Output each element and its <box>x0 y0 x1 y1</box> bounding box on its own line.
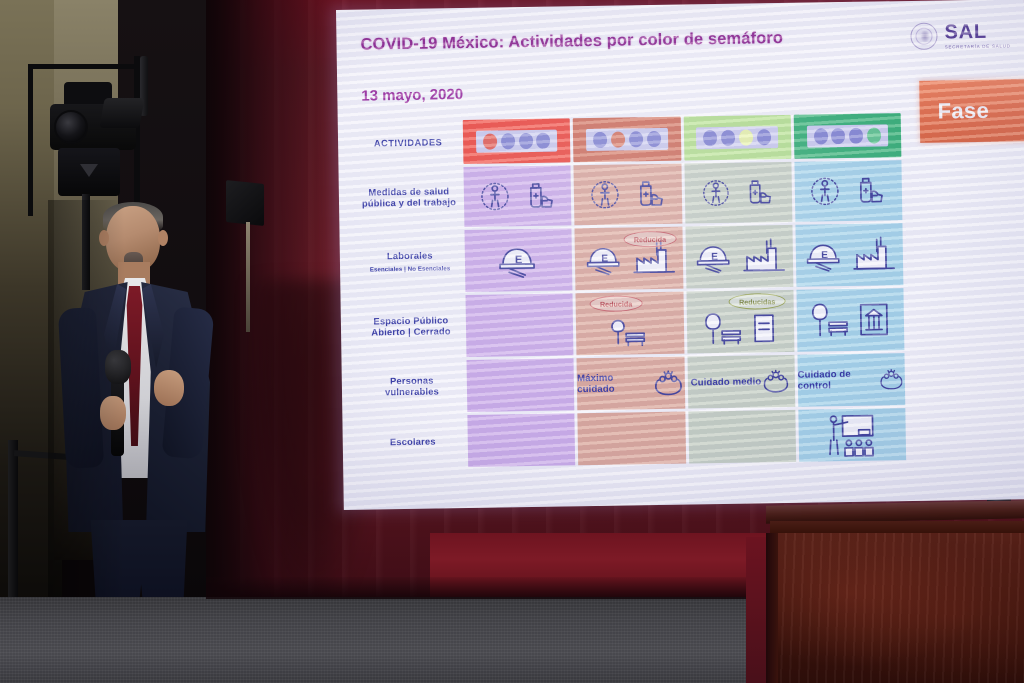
projection-screen: COVID-19 México: Actividades por color d… <box>336 0 1024 510</box>
table-cell <box>463 165 571 227</box>
park-bench-icon <box>811 301 852 340</box>
sanitizer-icon <box>744 176 774 208</box>
table-cell: E <box>685 225 793 289</box>
row-label-actividades: ACTIVIDADES <box>356 120 461 166</box>
podium-backdrop <box>746 537 768 683</box>
factory-icon <box>853 236 896 273</box>
row-label-vulnerables: Personas vulnerables <box>360 360 465 414</box>
helmet-icon: E <box>583 239 628 278</box>
table-cell <box>463 118 571 164</box>
brand-name: SAL <box>944 21 1010 42</box>
metal-rail <box>246 222 250 332</box>
stage-scene: COVID-19 México: Actividades por color d… <box>0 0 1024 683</box>
semaforo-naranja <box>573 117 681 163</box>
table-cell <box>574 164 682 226</box>
table-cell: Cuidado de control <box>797 353 905 407</box>
table-cell: Cuidado medio <box>687 355 795 409</box>
hands-care-icon <box>651 369 684 398</box>
helmet-icon: E <box>803 236 848 275</box>
slide-title: COVID-19 México: Actividades por color d… <box>360 29 783 55</box>
table-cell <box>467 358 575 412</box>
rig-post-left <box>28 64 33 216</box>
slide-surface: COVID-19 México: Actividades por color d… <box>336 0 1024 510</box>
hands-care-icon <box>878 366 905 392</box>
svg-text:E: E <box>711 252 718 263</box>
cell-icons <box>479 179 556 214</box>
lamp <box>703 130 717 146</box>
table-cell <box>578 412 686 466</box>
distancing-icon <box>702 177 730 209</box>
lamp <box>757 129 771 145</box>
care-level-label: Cuidado de control <box>797 369 878 392</box>
table-cell <box>683 115 791 161</box>
lamp <box>813 128 827 144</box>
podium-side-edge <box>766 533 778 683</box>
lamp <box>721 130 735 146</box>
table-cell: E <box>464 228 572 292</box>
table-cell <box>798 408 906 462</box>
svg-text:E: E <box>514 254 522 266</box>
podium-panel <box>776 533 1024 683</box>
rig-crossbar <box>28 64 140 69</box>
row-label-laborales: Laborales Esenciales | No Esenciales <box>357 230 462 294</box>
table-cell <box>794 160 902 222</box>
semaforo-verde <box>793 113 901 159</box>
sanitizer-icon <box>634 177 667 211</box>
table-cell: E <box>795 223 903 287</box>
table-cell <box>796 288 904 352</box>
lamp <box>629 131 643 147</box>
cell-icons <box>702 176 774 209</box>
lamp <box>593 132 607 148</box>
cell-icons <box>704 310 777 347</box>
sanitizer-icon <box>523 179 556 213</box>
care-level-label: Máximo cuidado <box>577 372 652 395</box>
lamp-lit <box>867 127 881 143</box>
cell-icons <box>810 173 887 208</box>
care-level-label: Cuidado medio <box>691 376 762 388</box>
camera-lens-icon <box>54 110 88 144</box>
table-cell: Máximo cuidado <box>577 357 685 411</box>
semaforo-amarillo <box>683 115 791 161</box>
svg-text:E: E <box>822 250 829 261</box>
park-bench-icon <box>610 315 651 350</box>
cell-icons: E <box>803 235 896 274</box>
building-open-icon <box>859 302 890 336</box>
svg-text:E: E <box>601 254 608 265</box>
table-cell: Reducida <box>576 292 684 356</box>
salud-branding: SAL SECRETARÍA DE SALUD <box>910 21 1010 50</box>
table-cell <box>573 117 681 163</box>
brand-subtitle: SECRETARÍA DE SALUD <box>945 43 1011 49</box>
traffic-light-icon <box>806 124 888 147</box>
table-cell <box>684 162 792 224</box>
table-cell <box>465 293 573 357</box>
cell-icons <box>811 300 890 339</box>
distancing-icon <box>590 178 621 212</box>
row-label-espacio: Espacio Público Abierto | Cerrado <box>359 295 464 359</box>
traffic-light-icon <box>586 128 668 151</box>
table-cell <box>467 413 575 467</box>
lamp <box>849 128 863 144</box>
fase-banner: Fase <box>919 79 1024 143</box>
table-cell <box>793 113 901 159</box>
semaforo-rojo <box>463 118 571 164</box>
lamp <box>519 133 533 149</box>
camera-hood <box>99 98 144 128</box>
lamp-lit <box>611 131 625 147</box>
badge-reducida: Reducida <box>590 295 643 312</box>
lamp-lit <box>483 133 497 149</box>
lamp <box>647 131 661 147</box>
lamp <box>536 133 550 149</box>
wall-speaker <box>226 180 264 226</box>
park-bench-icon <box>704 311 745 348</box>
fase-banner-label: Fase <box>937 98 989 125</box>
table-cell <box>688 410 796 464</box>
mexican-eagle-seal-icon <box>910 23 937 50</box>
helmet-icon: E <box>693 238 738 277</box>
distancing-icon <box>810 174 841 208</box>
helmet-icon: E <box>494 240 543 281</box>
slide-content: COVID-19 México: Actividades por color d… <box>336 0 1024 510</box>
hands-care-icon <box>761 368 791 394</box>
tripod-arrow <box>80 164 98 177</box>
badge-reducidas: Reducidas <box>729 293 786 310</box>
semaforo-table: ACTIVIDADES <box>356 113 906 469</box>
lamp <box>831 128 845 144</box>
traffic-light-icon <box>696 126 778 149</box>
cell-icons: E <box>693 237 786 276</box>
building-closed-icon <box>752 312 776 344</box>
distancing-icon <box>479 179 510 213</box>
lamp-lit <box>739 129 753 145</box>
factory-icon <box>743 238 786 275</box>
lamp <box>501 133 515 149</box>
wooden-podium <box>766 503 1024 683</box>
classroom-icon <box>821 412 884 457</box>
table-cell: Reducidas <box>686 290 794 354</box>
traffic-light-icon <box>476 130 558 153</box>
wood-grain <box>776 533 1024 683</box>
sanitizer-icon <box>854 173 887 207</box>
row-label-escolares: Escolares <box>360 415 465 469</box>
table-cell: Reducida E <box>575 227 683 291</box>
slide-date: 13 mayo, 2020 <box>361 86 463 105</box>
cell-icons <box>590 177 667 212</box>
row-label-medidas: Medidas de salud pública y del trabajo <box>356 167 461 229</box>
